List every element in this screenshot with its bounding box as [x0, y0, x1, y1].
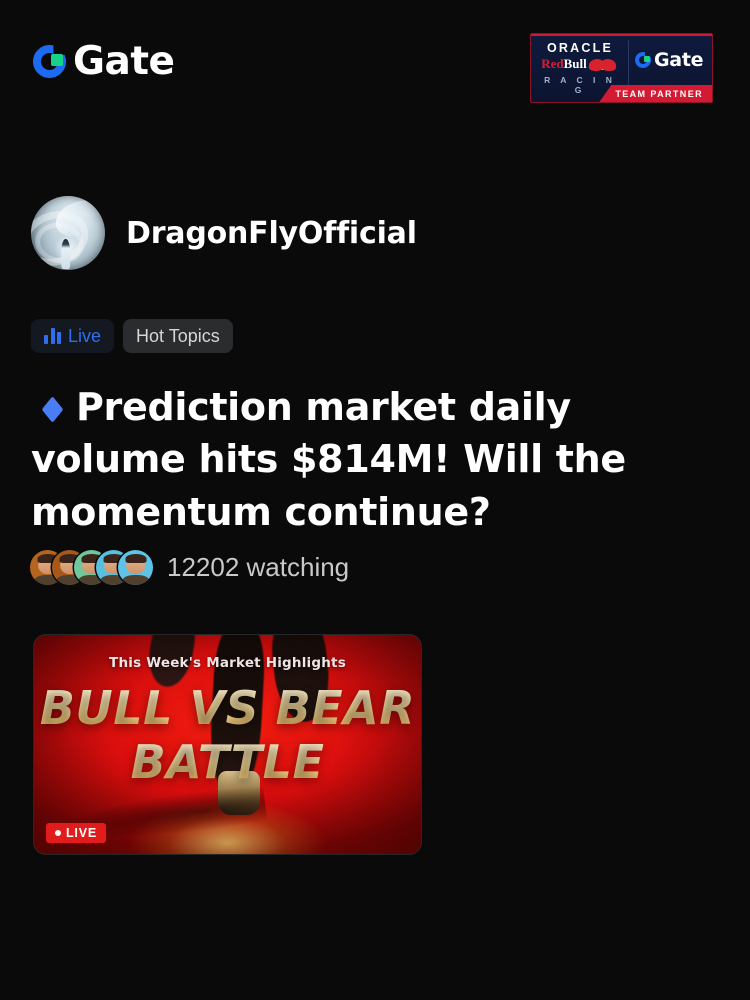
- badge-divider: [628, 40, 629, 86]
- live-label: Live: [68, 326, 101, 347]
- stream-title: Prediction market daily volume hits $814…: [31, 381, 696, 538]
- oracle-label: ORACLE: [537, 41, 623, 55]
- viewer-avatar-stack[interactable]: [30, 550, 153, 585]
- partner-gate-lockup: Gate: [635, 49, 703, 71]
- brand-name: Gate: [73, 42, 174, 81]
- page-title: DragonFlyOfficial: [126, 216, 417, 251]
- live-stream-page: Gate ORACLE RedBull R A C I N G: [0, 0, 750, 1000]
- watching-count: 12202 watching: [167, 552, 349, 583]
- watching-row: 12202 watching: [30, 550, 349, 585]
- stream-thumbnail-card[interactable]: This Week's Market Highlights BULL VS BE…: [33, 634, 422, 855]
- badge-top-accent-line: [531, 34, 712, 36]
- avatar[interactable]: [31, 196, 105, 270]
- bull-word: Bull: [564, 56, 587, 71]
- team-partner-ribbon: TEAM PARTNER: [599, 85, 712, 102]
- hot-topics-label: Hot Topics: [136, 326, 220, 347]
- charging-bulls-icon: [589, 58, 619, 71]
- tag-row: Live Hot Topics: [31, 319, 233, 353]
- thumbnail-subtitle: This Week's Market Highlights: [34, 655, 421, 671]
- streamer-profile[interactable]: DragonFlyOfficial: [31, 196, 417, 270]
- live-dot-icon: [55, 830, 61, 836]
- live-badge-label: LIVE: [66, 826, 97, 840]
- thumbnail-headline-line1: BULL VS BEAR: [34, 681, 421, 735]
- page-header: Gate ORACLE RedBull R A C I N G: [0, 0, 750, 120]
- red-bull-wordmark: RedBull: [537, 56, 623, 72]
- partner-brand-name: Gate: [654, 49, 703, 71]
- gate-logo-icon-small: [635, 52, 651, 68]
- red-word: Red: [541, 56, 563, 71]
- thumbnail-live-badge: LIVE: [46, 823, 106, 843]
- thumbnail-headline-line2: BATTLE: [34, 735, 421, 789]
- gate-logo-icon: [33, 45, 66, 78]
- tag-hot-topics[interactable]: Hot Topics: [123, 319, 233, 353]
- stream-title-text: Prediction market daily volume hits $814…: [31, 385, 626, 534]
- status-badge-live[interactable]: Live: [31, 319, 114, 353]
- viewer-avatar-5: [118, 550, 153, 585]
- gate-brand-logo[interactable]: Gate: [33, 42, 174, 81]
- oracle-red-bull-racing-partner-badge[interactable]: ORACLE RedBull R A C I N G Gate: [530, 33, 713, 103]
- bar-chart-icon: [44, 328, 61, 344]
- blue-diamond-icon: [42, 396, 64, 423]
